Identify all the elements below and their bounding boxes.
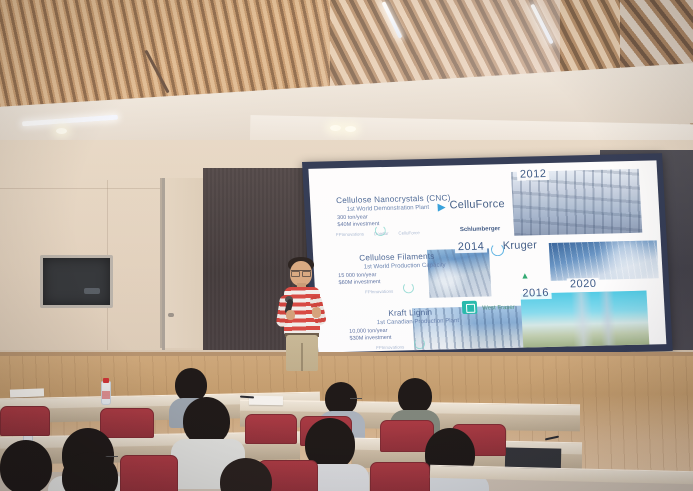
night-industrial-photo — [549, 240, 659, 281]
side-door[interactable] — [160, 178, 208, 348]
slide-block-cnc: Cellulose Nanocrystals (CNC) 1st World D… — [336, 193, 452, 229]
audience-head — [398, 378, 432, 414]
year-label-2012: 2012 — [517, 168, 550, 181]
slide-block-filaments: Cellulose Filaments 1st World Production… — [345, 251, 447, 286]
kruger-swirl-icon — [491, 243, 505, 256]
presenter-right-hand — [312, 307, 321, 318]
stage-wall-join — [0, 352, 693, 356]
year-label-2014: 2014 — [455, 240, 488, 253]
recessed-downlight — [56, 128, 67, 134]
monitor-glare — [84, 288, 100, 294]
celluforce-logo: CelluForce — [449, 198, 505, 211]
audience-head — [183, 397, 230, 445]
paper-sheet — [249, 396, 283, 406]
slide-block-lignin: Kraft Lignin 1st Canadian Production Pla… — [356, 307, 460, 342]
year-label-2016: 2016 — [519, 287, 552, 300]
block-subtitle: 1st World Demonstration Plant — [346, 203, 451, 213]
door-handle[interactable] — [168, 313, 174, 317]
bottle-cap — [103, 378, 109, 383]
eyeglasses — [291, 270, 311, 275]
schlumberger-logo: Schlumberger — [460, 226, 501, 233]
presenter-left-hand — [286, 310, 295, 320]
fpinnovations-logo: FPInnovations — [376, 344, 404, 350]
wall-panel-seam — [0, 188, 160, 189]
presentation-photo-scene: Cellulose Nanocrystals (CNC) 1st World D… — [0, 0, 693, 491]
year-label-2020: 2020 — [567, 278, 600, 291]
audience-head — [0, 440, 52, 491]
screen-surface: Cellulose Nanocrystals (CNC) 1st World D… — [308, 160, 666, 352]
slide-content: Cellulose Nanocrystals (CNC) 1st World D… — [308, 160, 666, 352]
water-bottle — [101, 381, 111, 405]
seat[interactable] — [0, 406, 50, 436]
partner-logo-row-filaments: FPInnovations — [365, 289, 393, 295]
recessed-downlight — [345, 126, 356, 132]
block-subtitle: 1st Canadian Production Plant — [377, 317, 460, 326]
celluforce-small-logo: CelluForce — [398, 230, 420, 236]
block-investment: $40M investment — [337, 219, 452, 229]
partner-logo-row-lignin: FPInnovations — [376, 344, 404, 350]
west-fraser-house-icon — [462, 301, 478, 314]
celluforce-arrow-icon — [437, 203, 445, 211]
wall-monitor[interactable] — [40, 255, 113, 308]
pulp-mill-photo — [520, 291, 649, 349]
block-subtitle: 1st World Production Capacity — [364, 261, 446, 270]
kruger-logo: Kruger — [503, 239, 538, 252]
seat[interactable] — [245, 414, 297, 444]
projection-screen[interactable]: Cellulose Nanocrystals (CNC) 1st World D… — [302, 153, 673, 360]
west-fraser-logo: West Fraser — [482, 305, 515, 312]
seat[interactable] — [120, 455, 178, 491]
recessed-downlight — [330, 125, 341, 131]
fpinnovations-swirl-icon — [403, 282, 415, 293]
bottle-label — [102, 391, 110, 399]
seat[interactable] — [370, 462, 430, 491]
presenter — [272, 255, 334, 370]
block-title: Kraft Lignin — [388, 307, 459, 318]
paper-sheet — [10, 388, 44, 397]
seat[interactable] — [100, 408, 154, 438]
fpinnovations-logo: FPInnovations — [365, 289, 393, 295]
west-fraser-tree-icon: ▲ — [520, 271, 529, 280]
trouser-seam — [301, 343, 303, 371]
door-post — [162, 178, 165, 350]
eyeglasses — [350, 398, 362, 402]
fpinnovations-logo: FPInnovations — [336, 231, 364, 237]
